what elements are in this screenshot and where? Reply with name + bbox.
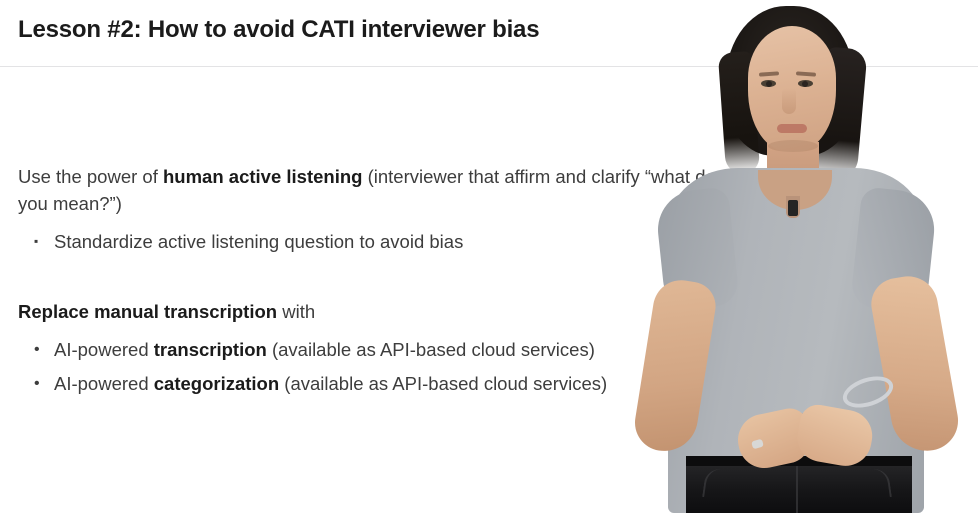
dot-bullet-icon: •: [34, 370, 40, 397]
spacer: [18, 325, 718, 336]
list-item-bold: categorization: [154, 373, 279, 394]
presenter-hand-left: [733, 405, 815, 473]
slide-body: Use the power of human active listening …: [18, 163, 718, 397]
presenter-sleeve-right: [850, 186, 938, 313]
presenter-eyebrow-left: [759, 71, 779, 76]
presenter-pocket-left: [702, 467, 748, 503]
header-divider: [0, 66, 978, 67]
presenter-jeans: [686, 456, 912, 513]
list-item-prefix: Standardize active listening question to…: [54, 231, 463, 252]
presenter-arm-right: [867, 272, 963, 457]
presenter-bracelet: [839, 371, 897, 414]
presenter-neck: [767, 142, 819, 190]
presenter-eye-left: [761, 80, 776, 87]
presenter-mouth: [777, 124, 807, 133]
presenter-ring: [751, 439, 764, 450]
square-bullet-icon: ▪: [34, 228, 38, 255]
presenter-jeans-seam: [796, 466, 798, 513]
section-1-lead: Use the power of human active listening …: [18, 163, 718, 217]
section-2-lead-bold: Replace manual transcription: [18, 301, 277, 322]
list-item-bold: transcription: [154, 339, 267, 360]
spacer: [18, 217, 718, 228]
presenter-collar: [758, 170, 832, 210]
list-item-prefix: AI-powered: [54, 339, 154, 360]
list-item-prefix: AI-powered: [54, 373, 154, 394]
presenter-eye-right: [798, 80, 813, 87]
presenter-pocket-right: [846, 467, 892, 503]
dot-bullet-icon: •: [34, 336, 40, 363]
section-1-lead-bold: human active listening: [163, 166, 362, 187]
presenter-chin-shadow: [768, 140, 818, 152]
list-item: ▪Standardize active listening question t…: [18, 228, 718, 255]
presenter-hair-left: [718, 51, 760, 175]
presenter-pupil-right: [802, 81, 808, 87]
presenter-belt: [686, 456, 912, 466]
section-2-lead: Replace manual transcription with: [18, 298, 718, 325]
list-item-suffix: (available as API-based cloud services): [279, 373, 607, 394]
list-item: •AI-powered transcription (available as …: [18, 336, 718, 363]
section-1-bullet-list: ▪Standardize active listening question t…: [18, 228, 718, 255]
page-title: Lesson #2: How to avoid CATI interviewer…: [18, 16, 539, 44]
section-2-lead-suffix: with: [277, 301, 315, 322]
slide-screen: Lesson #2: How to avoid CATI interviewer…: [0, 0, 978, 513]
presenter-eyebrow-right: [796, 71, 816, 76]
section-1-lead-prefix: Use the power of: [18, 166, 163, 187]
spacer: [18, 363, 718, 370]
list-item-suffix: (available as API-based cloud services): [267, 339, 595, 360]
presentation-clicker-icon: [780, 412, 823, 455]
presenter-hand-right: [794, 402, 877, 470]
presenter-hair: [726, 6, 854, 156]
presenter-pupil-left: [766, 81, 772, 87]
presenter-face: [748, 26, 836, 152]
presenter-nose: [782, 88, 796, 114]
list-item: •AI-powered categorization (available as…: [18, 370, 718, 397]
presenter-collar-notch: [786, 196, 800, 218]
section-2-bullet-list: •AI-powered transcription (available as …: [18, 336, 718, 397]
lapel-microphone-icon: [788, 200, 798, 216]
spacer: [18, 255, 718, 298]
